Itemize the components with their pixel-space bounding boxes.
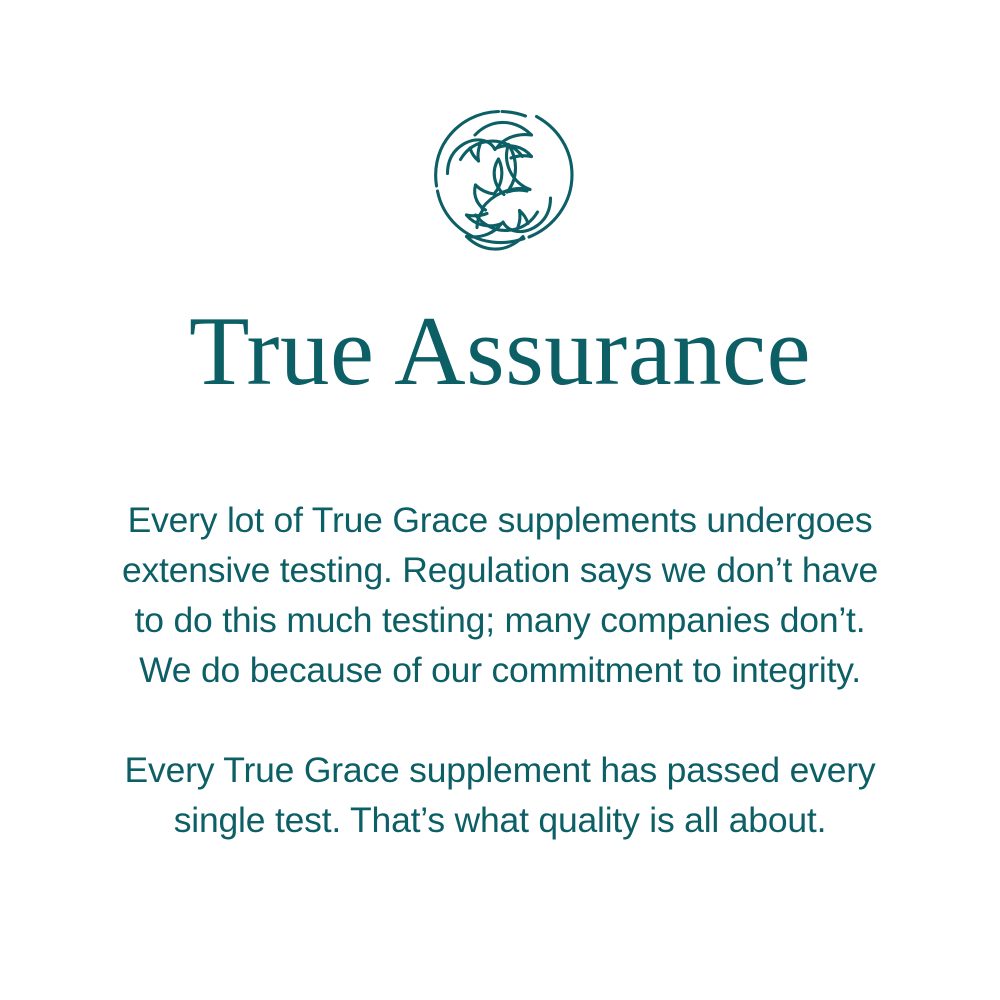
true-grace-emblem-icon bbox=[416, 98, 584, 276]
copy-line: single test. That’s what quality is all … bbox=[50, 795, 950, 845]
copy-line: We do because of our commitment to integ… bbox=[50, 645, 950, 695]
paragraph-2: Every True Grace supplement has passed e… bbox=[50, 745, 950, 845]
true-assurance-panel: True Assurance Every lot of True Grace s… bbox=[0, 0, 1000, 1000]
copy-line: Every lot of True Grace supplements unde… bbox=[50, 495, 950, 545]
copy-line: extensive testing. Regulation says we do… bbox=[50, 545, 950, 595]
body-copy: Every lot of True Grace supplements unde… bbox=[50, 495, 950, 845]
brand-logo bbox=[0, 98, 1000, 276]
copy-line: to do this much testing; many companies … bbox=[50, 595, 950, 645]
paragraph-1: Every lot of True Grace supplements unde… bbox=[50, 495, 950, 695]
page-title: True Assurance bbox=[0, 300, 1000, 404]
copy-line: Every True Grace supplement has passed e… bbox=[50, 745, 950, 795]
